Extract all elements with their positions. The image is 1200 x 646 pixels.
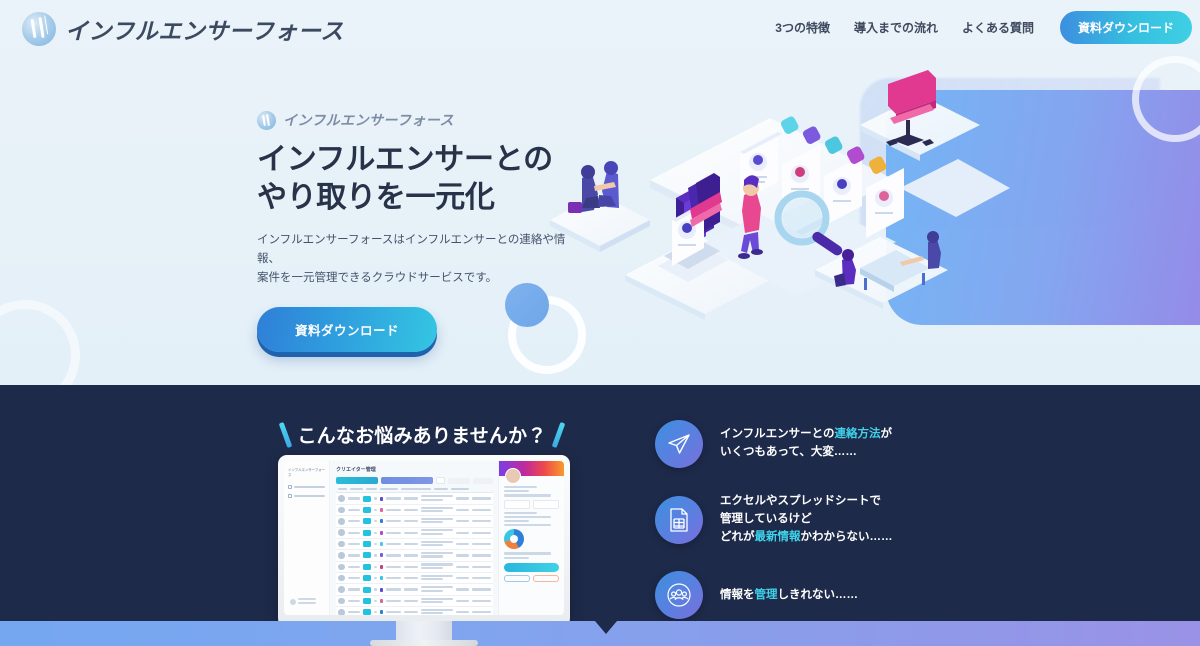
cell-value <box>404 554 418 556</box>
site-logo[interactable]: インフルエンサーフォース <box>22 12 344 46</box>
problems-heading: こんなお悩みありませんか？ <box>297 421 546 448</box>
status-badge <box>363 530 371 536</box>
avatar <box>338 598 345 605</box>
cell-value-multiline <box>421 575 453 582</box>
info-line <box>504 516 551 518</box>
add-creator-button[interactable] <box>336 477 378 484</box>
folder-icon <box>288 494 292 498</box>
cell-value-multiline <box>421 529 453 536</box>
cell-value <box>456 600 470 602</box>
cell-value <box>386 611 401 613</box>
count-value <box>374 588 377 590</box>
status-badge <box>363 552 371 558</box>
apply-button[interactable] <box>504 563 559 572</box>
count-value <box>374 554 377 556</box>
cell-value <box>404 600 418 602</box>
sidebar-account[interactable] <box>290 598 316 605</box>
cell-value <box>472 611 491 613</box>
cell-value-multiline <box>421 541 453 548</box>
hero-brand-label: インフルエンサーフォース <box>283 110 454 130</box>
hero-brand-lockup: インフルエンサーフォース <box>257 110 587 130</box>
nav-item-features[interactable]: 3つの特徴 <box>775 19 830 36</box>
dashboard-monitor: インフルエンサーフォース <box>278 455 570 646</box>
status-badge <box>363 518 371 524</box>
profile-meta <box>504 490 529 492</box>
plain-text: 管理しているけど <box>720 513 812 525</box>
cell-value <box>472 509 491 511</box>
cell-value <box>386 588 401 590</box>
creator-name <box>348 611 360 613</box>
status-badge <box>363 598 371 604</box>
hero-title-line2: やり取りを一元化 <box>257 181 495 214</box>
creator-name <box>348 543 360 545</box>
stat-chip <box>533 500 559 509</box>
plain-text: エクセルやスプレッドシートで <box>720 495 881 507</box>
platform-icon <box>380 565 384 569</box>
table-row[interactable] <box>336 562 493 573</box>
platform-icon <box>380 599 384 603</box>
people-group-icon <box>655 571 703 619</box>
main-navigation: 3つの特徴 導入までの流れ よくある質問 資料ダウンロード <box>775 11 1192 44</box>
hero-download-button[interactable]: 資料ダウンロード <box>257 307 437 352</box>
platform-icon <box>380 542 384 546</box>
table-row[interactable] <box>336 596 493 607</box>
cell-value <box>404 566 418 568</box>
info-line <box>504 557 529 559</box>
section-label-creator-info <box>504 512 537 514</box>
cell-value <box>472 520 491 522</box>
count-value <box>374 497 377 499</box>
avatar <box>338 541 345 548</box>
cell-value <box>386 497 401 499</box>
avatar <box>338 507 345 514</box>
creator-name <box>348 600 360 602</box>
avatar <box>338 609 345 615</box>
platform-icon <box>380 497 384 501</box>
dashboard-main: クリエイター管理 <box>330 461 498 615</box>
cell-value <box>472 566 491 568</box>
cell-value <box>472 543 491 545</box>
count-value <box>374 532 377 534</box>
decorative-ring-bottom-left <box>0 300 80 385</box>
action-button[interactable] <box>473 478 493 484</box>
creator-name <box>348 532 360 534</box>
cell-value <box>456 509 470 511</box>
cell-value <box>404 509 418 511</box>
cell-value-multiline <box>421 518 453 525</box>
cell-value-multiline <box>421 586 453 593</box>
cell-value <box>404 588 418 590</box>
cell-value <box>404 543 418 545</box>
secondary-actions <box>504 575 559 582</box>
status-badge <box>363 507 371 513</box>
creator-name <box>348 588 360 590</box>
problems-list: インフルエンサーとの連絡方法がいくつもあって、大変…… エクセルやスプレッドシー… <box>655 420 985 644</box>
status-badge <box>363 575 371 581</box>
cell-value <box>472 600 491 602</box>
dashboard-toolbar <box>336 477 493 484</box>
cell-value <box>386 543 401 545</box>
table-row[interactable] <box>336 528 493 539</box>
table-row[interactable] <box>336 505 493 516</box>
table-row[interactable] <box>336 539 493 550</box>
status-badge <box>363 541 371 547</box>
nav-item-flow[interactable]: 導入までの流れ <box>854 19 938 36</box>
plain-text: インフルエンサーとの <box>720 428 835 440</box>
sidebar-item-label <box>294 495 325 498</box>
count-value <box>374 566 377 568</box>
cell-value <box>386 566 401 568</box>
cell-value <box>386 577 401 579</box>
platform-icon <box>380 588 384 592</box>
dashboard-sidebar-logo: インフルエンサーフォース <box>288 467 325 477</box>
cell-value-multiline <box>421 598 453 605</box>
cell-value <box>386 520 401 522</box>
status-badge <box>363 496 371 502</box>
sidebar-item-projects[interactable] <box>288 494 325 498</box>
hero-title-line1: インフルエンサーとの <box>257 143 553 176</box>
page-title: インフルエンサーとの やり取りを一元化 <box>257 141 587 217</box>
dashboard-detail-panel <box>498 461 564 615</box>
cell-value-multiline <box>421 563 453 570</box>
table-row[interactable] <box>336 493 493 504</box>
status-badge <box>363 609 371 615</box>
cell-value <box>456 543 470 545</box>
problem-item: エクセルやスプレッドシートで管理しているけどどれが最新情報かわからない…… <box>655 493 985 546</box>
spreadsheet-document-icon <box>655 496 703 544</box>
avatar <box>338 552 345 559</box>
count-value <box>374 611 377 613</box>
profile-name <box>504 486 537 488</box>
site-header: インフルエンサーフォース 3つの特徴 導入までの流れ よくある質問 資料ダウンロ… <box>0 0 1200 58</box>
avatar <box>338 495 345 502</box>
cell-value <box>456 611 470 613</box>
monitor-foot-lower <box>370 640 478 646</box>
hero-subtitle-line2: 案件を一元管理できるクラウドサービスです。 <box>257 272 497 284</box>
plain-text: いくつもあって、大変…… <box>720 446 857 458</box>
plain-text: 情報を <box>720 589 755 601</box>
users-icon <box>288 485 292 489</box>
table-row[interactable] <box>336 550 493 561</box>
sidebar-item-label <box>294 486 325 489</box>
problem-item: 情報を管理しきれない…… <box>655 571 985 619</box>
cell-value <box>456 577 470 579</box>
hero-copy: インフルエンサーフォース インフルエンサーとの やり取りを一元化 インフルエンサ… <box>257 110 587 352</box>
cell-value <box>386 600 401 602</box>
filter-button[interactable] <box>448 478 470 484</box>
status-badge <box>363 587 371 593</box>
highlight-text: 最新情報 <box>755 531 801 543</box>
slash-right-icon <box>551 421 565 447</box>
platform-icon <box>380 531 384 535</box>
avatar <box>338 586 345 593</box>
problems-heading-wrap: こんなお悩みありませんか？ <box>277 421 567 448</box>
avatar <box>290 599 296 605</box>
profile-stat-chips <box>504 500 559 509</box>
dashboard-page-title: クリエイター管理 <box>336 466 493 473</box>
cell-value <box>472 532 491 534</box>
cell-value <box>404 520 418 522</box>
highlight-text: 連絡方法 <box>835 428 881 440</box>
request-button[interactable] <box>533 575 559 582</box>
count-value <box>374 520 377 522</box>
cell-value <box>404 532 418 534</box>
slash-left-icon <box>279 421 293 447</box>
platform-icon <box>380 553 384 557</box>
table-row[interactable] <box>336 516 493 527</box>
dashboard-sidebar: インフルエンサーフォース <box>284 461 330 615</box>
avatar <box>338 529 345 536</box>
bulk-add-button[interactable] <box>381 477 433 484</box>
count-value <box>374 543 377 545</box>
nav-item-faq[interactable]: よくある質問 <box>962 19 1034 36</box>
info-line <box>504 552 551 554</box>
highlight-text: 管理 <box>755 589 778 601</box>
stat-chip <box>504 500 530 509</box>
count-value <box>374 577 377 579</box>
cell-value <box>386 509 401 511</box>
hero-illustration <box>530 70 1010 320</box>
cell-value <box>472 577 491 579</box>
cell-value <box>456 566 470 568</box>
problem-text: インフルエンサーとの連絡方法がいくつもあって、大変…… <box>720 426 892 462</box>
if-circle-logo-icon <box>22 12 56 46</box>
favorite-button[interactable] <box>504 575 530 582</box>
problems-section: こんなお悩みありませんか？ インフルエンサーフォース <box>0 385 1200 621</box>
creator-name <box>348 509 360 511</box>
cell-value-multiline <box>421 507 453 514</box>
cell-value <box>456 497 470 499</box>
creator-name <box>348 577 360 579</box>
hero-subtitle: インフルエンサーフォースはインフルエンサーとの連絡や情報、 案件を一元管理できる… <box>257 231 587 288</box>
platform-icon <box>380 508 384 512</box>
problem-text: 情報を管理しきれない…… <box>720 587 858 605</box>
plain-text: しきれない…… <box>778 589 859 601</box>
cell-value <box>404 497 418 499</box>
cell-value-multiline <box>421 609 453 615</box>
cell-value <box>386 554 401 556</box>
cell-value <box>456 532 470 534</box>
cell-value <box>386 532 401 534</box>
monitor-screen: インフルエンサーフォース <box>284 461 564 615</box>
landing-page: インフルエンサーフォース インフルエンサーとの やり取りを一元化 インフルエンサ… <box>0 0 1200 646</box>
cell-value <box>472 554 491 556</box>
brand-name: インフルエンサーフォース <box>65 12 344 46</box>
hero-subtitle-line1: インフルエンサーフォースはインフルエンサーとの連絡や情報、 <box>257 234 565 265</box>
creator-name <box>348 520 360 522</box>
plain-text: が <box>881 428 893 440</box>
cell-value <box>456 554 470 556</box>
audience-donut-chart <box>504 529 524 549</box>
platform-icon <box>380 519 384 523</box>
cell-value <box>404 577 418 579</box>
header-download-button[interactable]: 資料ダウンロード <box>1060 11 1192 44</box>
if-circle-logo-icon <box>257 111 276 130</box>
search-input[interactable] <box>436 477 445 484</box>
problem-text: エクセルやスプレッドシートで管理しているけどどれが最新情報かわからない…… <box>720 493 893 546</box>
creator-name <box>348 566 360 568</box>
profile-link <box>504 494 551 496</box>
profile-details <box>499 486 564 582</box>
creator-name <box>348 497 360 499</box>
cell-value <box>404 611 418 613</box>
table-row[interactable] <box>336 573 493 584</box>
section-notch-arrow-icon <box>595 621 617 634</box>
isometric-scene-svg <box>530 70 1010 320</box>
avatar <box>338 575 345 582</box>
cell-value <box>456 588 470 590</box>
platform-icon <box>380 610 384 614</box>
plain-text: かわからない…… <box>801 531 893 543</box>
cell-value <box>456 520 470 522</box>
table-row[interactable] <box>336 584 493 595</box>
avatar <box>338 564 345 571</box>
status-badge <box>363 564 371 570</box>
cell-value <box>472 497 491 499</box>
info-line <box>504 524 551 526</box>
info-line <box>504 520 529 522</box>
avatar <box>338 518 345 525</box>
cell-value-multiline <box>421 495 453 502</box>
sidebar-item-creators[interactable] <box>288 485 325 489</box>
table-row[interactable] <box>336 607 493 615</box>
count-value <box>374 509 377 511</box>
creator-name <box>348 554 360 556</box>
paper-plane-icon <box>655 420 703 468</box>
profile-avatar <box>505 468 521 484</box>
cell-value <box>472 588 491 590</box>
problem-item: インフルエンサーとの連絡方法がいくつもあって、大変…… <box>655 420 985 468</box>
count-value <box>374 600 377 602</box>
platform-icon <box>380 576 384 580</box>
monitor-bezel: インフルエンサーフォース <box>278 455 570 631</box>
account-label <box>298 598 316 605</box>
plain-text: どれが <box>720 531 755 543</box>
table-body <box>336 493 493 615</box>
cell-value-multiline <box>421 552 453 559</box>
